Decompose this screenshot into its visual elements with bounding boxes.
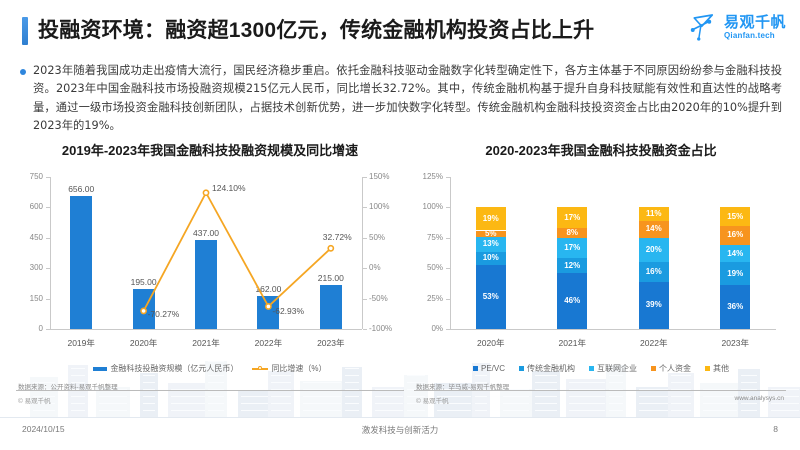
segment-value-label: 16% bbox=[646, 268, 662, 276]
skyline-window bbox=[569, 410, 605, 412]
stack-segment-其他: 19% bbox=[476, 207, 506, 230]
skyline-window bbox=[569, 403, 605, 405]
skyline-window bbox=[535, 375, 557, 377]
stack-segment-PE/VC: 46% bbox=[557, 273, 587, 329]
y-tick-mark bbox=[446, 268, 450, 269]
segment-value-label: 5% bbox=[485, 230, 497, 238]
skyline-window bbox=[143, 396, 155, 398]
segment-value-label: 10% bbox=[483, 254, 499, 262]
right-copyright-note: © 易观千帆 bbox=[416, 395, 449, 405]
y-tick-mark bbox=[446, 177, 450, 178]
skyline-window bbox=[375, 396, 403, 398]
y-axis bbox=[450, 177, 451, 329]
stack-segment-互联网企业: 14% bbox=[720, 245, 750, 262]
skyline-window bbox=[609, 382, 623, 384]
legend-label: 个人资金 bbox=[659, 363, 691, 374]
y-tick-label: 25% bbox=[427, 294, 443, 303]
segment-value-label: 46% bbox=[564, 297, 580, 305]
segment-value-label: 17% bbox=[564, 244, 580, 252]
skyline-window bbox=[771, 410, 799, 412]
left-chart-panel: 2019年-2023年我国金融科技投融资规模及同比增速 015030045060… bbox=[14, 140, 406, 374]
skyline-window bbox=[143, 410, 155, 412]
logo-text-cn: 易观千帆 bbox=[724, 15, 786, 30]
skyline-window bbox=[639, 396, 669, 398]
title-accent-bar bbox=[22, 17, 28, 45]
x-axis bbox=[450, 329, 776, 330]
skyline-window bbox=[771, 403, 799, 405]
stack-segment-其他: 17% bbox=[557, 207, 587, 228]
skyline-window bbox=[143, 375, 155, 377]
footer-slogan: 激发科技与创新活力 bbox=[0, 424, 800, 436]
y-tick-label: 50% bbox=[427, 263, 443, 272]
footer-divider bbox=[0, 417, 800, 418]
skyline-window bbox=[703, 410, 737, 412]
stack-segment-传统金融机构: 19% bbox=[720, 262, 750, 285]
investment-scale-chart: 0150300450600750-100%-50%0%50%100%150%65… bbox=[14, 163, 406, 359]
skyline-window bbox=[271, 403, 291, 405]
stack-segment-个人资金: 8% bbox=[557, 228, 587, 238]
skyline-window bbox=[99, 403, 127, 405]
stack-segment-其他: 15% bbox=[720, 207, 750, 225]
sail-boat-logo-icon bbox=[689, 12, 719, 42]
skyline-window bbox=[271, 410, 291, 412]
legend-item: 同比增速（%） bbox=[252, 363, 326, 374]
skyline-window bbox=[303, 382, 341, 384]
legend-item: 金融科技投融资规模（亿元人民币） bbox=[93, 363, 238, 374]
skyline-window bbox=[639, 410, 669, 412]
x-category-label: 2021年 bbox=[538, 337, 606, 349]
skyline-window bbox=[208, 396, 224, 398]
legend-label: 传统金融机构 bbox=[527, 363, 575, 374]
skyline-window bbox=[143, 403, 155, 405]
skyline-window bbox=[271, 396, 291, 398]
line-value-label: -62.93% bbox=[272, 306, 304, 316]
skyline-window bbox=[609, 396, 623, 398]
stack-segment-传统金融机构: 10% bbox=[476, 252, 506, 264]
skyline-window bbox=[375, 410, 403, 412]
legend-color-swatch bbox=[589, 366, 594, 371]
y-tick-label: 100% bbox=[423, 202, 443, 211]
skyline-window bbox=[609, 403, 623, 405]
body-paragraph: 2023年随着我国成功走出疫情大流行，国民经济稳步重启。依托金融科技驱动金融数字… bbox=[33, 62, 782, 135]
y-tick-mark bbox=[446, 299, 450, 300]
skyline-window bbox=[671, 375, 691, 377]
skyline-window bbox=[407, 410, 425, 412]
legend-label: 同比增速（%） bbox=[271, 363, 326, 374]
skyline-window bbox=[741, 403, 757, 405]
stack-segment-传统金融机构: 16% bbox=[639, 262, 669, 281]
legend-color-swatch bbox=[705, 366, 710, 371]
skyline-window bbox=[609, 410, 623, 412]
stack-segment-个人资金: 14% bbox=[639, 221, 669, 238]
skyline-window bbox=[271, 375, 291, 377]
skyline-window bbox=[345, 403, 359, 405]
skyline-window bbox=[703, 403, 737, 405]
skyline-window bbox=[303, 396, 341, 398]
skyline-window bbox=[208, 403, 224, 405]
legend-item: 个人资金 bbox=[651, 363, 691, 374]
skyline-window bbox=[475, 403, 487, 405]
legend-label: PE/VC bbox=[481, 364, 505, 373]
skyline-window bbox=[639, 403, 669, 405]
stack-segment-个人资金: 16% bbox=[720, 226, 750, 245]
skyline-window bbox=[503, 410, 529, 412]
legend-label: 互联网企业 bbox=[597, 363, 637, 374]
segment-value-label: 11% bbox=[646, 210, 662, 218]
legend-line-swatch bbox=[252, 366, 268, 372]
x-category-label: 2023年 bbox=[701, 337, 769, 349]
skyline-window bbox=[171, 410, 205, 412]
skyline-window bbox=[437, 410, 471, 412]
legend-item: 其他 bbox=[705, 363, 729, 374]
skyline-window bbox=[671, 403, 691, 405]
skyline-window bbox=[208, 382, 224, 384]
skyline-window bbox=[345, 410, 359, 412]
line-value-label: -70.27% bbox=[148, 309, 180, 319]
legend-color-swatch bbox=[519, 366, 524, 371]
skyline-window bbox=[407, 375, 425, 377]
x-category-label: 2020年 bbox=[457, 337, 525, 349]
right-chart-legend: PE/VC传统金融机构互联网企业个人资金其他 bbox=[412, 363, 790, 374]
segment-value-label: 19% bbox=[483, 215, 499, 223]
y-tick-mark bbox=[446, 207, 450, 208]
line-value-label: 124.10% bbox=[212, 183, 246, 193]
skyline-window bbox=[208, 375, 224, 377]
segment-value-label: 20% bbox=[646, 246, 662, 254]
skyline-window bbox=[503, 403, 529, 405]
stack-segment-传统金融机构: 12% bbox=[557, 258, 587, 273]
skyline-window bbox=[345, 396, 359, 398]
skyline-window bbox=[271, 382, 291, 384]
page-title: 投融资环境：融资超1300亿元，传统金融机构投资占比上升 bbox=[38, 14, 594, 44]
skyline-window bbox=[99, 396, 127, 398]
legend-label: 其他 bbox=[713, 363, 729, 374]
growth-rate-line bbox=[14, 163, 406, 359]
segment-value-label: 8% bbox=[566, 229, 578, 237]
skyline-window bbox=[71, 396, 85, 398]
right-source-note: 数据来源：毕马威-易观千帆整理 bbox=[416, 381, 509, 391]
y-tick-mark bbox=[446, 329, 450, 330]
skyline-building bbox=[300, 381, 344, 417]
skyline-window bbox=[569, 396, 605, 398]
skyline-window bbox=[208, 410, 224, 412]
segment-value-label: 53% bbox=[483, 293, 499, 301]
skyline-window bbox=[671, 396, 691, 398]
right-chart-panel: 2020-2023年我国金融科技投融资金占比 0%25%50%75%100%12… bbox=[412, 140, 790, 374]
legend-bar-swatch bbox=[93, 367, 107, 371]
skyline-window bbox=[741, 382, 757, 384]
x-category-label: 2022年 bbox=[620, 337, 688, 349]
skyline-window bbox=[535, 382, 557, 384]
skyline-window bbox=[475, 375, 487, 377]
skyline-window bbox=[569, 382, 605, 384]
skyline-window bbox=[33, 410, 55, 412]
skyline-window bbox=[671, 410, 691, 412]
segment-value-label: 13% bbox=[483, 240, 499, 248]
skyline-window bbox=[703, 396, 737, 398]
legend-label: 金融科技投融资规模（亿元人民币） bbox=[110, 363, 238, 374]
funding-share-chart: 0%25%50%75%100%125%53%10%13%5%19%2020年46… bbox=[412, 163, 790, 359]
segment-value-label: 15% bbox=[727, 213, 743, 221]
skyline-window bbox=[171, 396, 205, 398]
legend-item: 互联网企业 bbox=[589, 363, 637, 374]
skyline-window bbox=[741, 410, 757, 412]
skyline-window bbox=[303, 410, 341, 412]
legend-color-swatch bbox=[651, 366, 656, 371]
skyline-window bbox=[609, 375, 623, 377]
skyline-window bbox=[345, 382, 359, 384]
skyline-window bbox=[241, 403, 271, 405]
skyline-window bbox=[99, 410, 127, 412]
y-tick-label: 75% bbox=[427, 233, 443, 242]
left-copyright-note: © 易观千帆 bbox=[18, 395, 51, 405]
y-tick-mark bbox=[446, 238, 450, 239]
skyline-window bbox=[375, 403, 403, 405]
skyline-window bbox=[535, 396, 557, 398]
skyline-window bbox=[241, 410, 271, 412]
left-chart-legend: 金融科技投融资规模（亿元人民币）同比增速（%） bbox=[14, 363, 406, 374]
skyline-window bbox=[241, 396, 271, 398]
segment-value-label: 12% bbox=[564, 262, 580, 270]
skyline-window bbox=[535, 403, 557, 405]
skyline-window bbox=[535, 410, 557, 412]
skyline-window bbox=[475, 410, 487, 412]
skyline-window bbox=[475, 396, 487, 398]
y-tick-label: 125% bbox=[423, 172, 443, 181]
segment-value-label: 39% bbox=[646, 301, 662, 309]
segment-value-label: 36% bbox=[727, 303, 743, 311]
skyline-window bbox=[345, 375, 359, 377]
body-paragraph-block: 2023年随着我国成功走出疫情大流行，国民经济稳步重启。依托金融科技驱动金融数字… bbox=[20, 62, 782, 135]
logo-text-en: Qianfan.tech bbox=[724, 32, 786, 40]
skyline-window bbox=[671, 382, 691, 384]
skyline-window bbox=[503, 396, 529, 398]
bullet-dot-icon bbox=[20, 69, 26, 75]
stack-segment-PE/VC: 39% bbox=[639, 282, 669, 329]
stack-segment-PE/VC: 53% bbox=[476, 265, 506, 329]
skyline-window bbox=[143, 382, 155, 384]
segment-value-label: 19% bbox=[727, 270, 743, 278]
skyline-window bbox=[71, 410, 85, 412]
y-tick-label: 0% bbox=[431, 324, 443, 333]
website-note: www.analysys.cn bbox=[735, 395, 785, 402]
right-chart-title: 2020-2023年我国金融科技投融资金占比 bbox=[412, 140, 790, 159]
skyline-window bbox=[71, 403, 85, 405]
left-chart-title: 2019年-2023年我国金融科技投融资规模及同比增速 bbox=[14, 140, 406, 159]
skyline-window bbox=[741, 375, 757, 377]
segment-value-label: 14% bbox=[727, 250, 743, 258]
stack-segment-互联网企业: 13% bbox=[476, 237, 506, 253]
left-source-note: 数据来源：公开资料-易观千帆整理 bbox=[18, 381, 118, 391]
footer-page-number: 8 bbox=[773, 424, 778, 434]
stack-segment-个人资金: 5% bbox=[476, 231, 506, 237]
skyline-window bbox=[171, 403, 205, 405]
stack-segment-互联网企业: 20% bbox=[639, 238, 669, 262]
stack-segment-PE/VC: 36% bbox=[720, 285, 750, 329]
legend-item: PE/VC bbox=[473, 364, 505, 373]
stack-segment-互联网企业: 17% bbox=[557, 238, 587, 259]
skyline-window bbox=[71, 375, 85, 377]
stack-segment-其他: 11% bbox=[639, 207, 669, 220]
slide-header: 投融资环境：融资超1300亿元，传统金融机构投资占比上升 易观千帆 Qianfa… bbox=[0, 0, 800, 58]
segment-value-label: 14% bbox=[646, 225, 662, 233]
legend-item: 传统金融机构 bbox=[519, 363, 575, 374]
skyline-window bbox=[303, 403, 341, 405]
legend-color-swatch bbox=[473, 366, 478, 371]
segment-value-label: 17% bbox=[564, 214, 580, 222]
brand-logo: 易观千帆 Qianfan.tech bbox=[689, 12, 786, 42]
line-value-label: 32.72% bbox=[323, 232, 352, 242]
skyline-building bbox=[566, 379, 608, 417]
segment-value-label: 16% bbox=[727, 231, 743, 239]
